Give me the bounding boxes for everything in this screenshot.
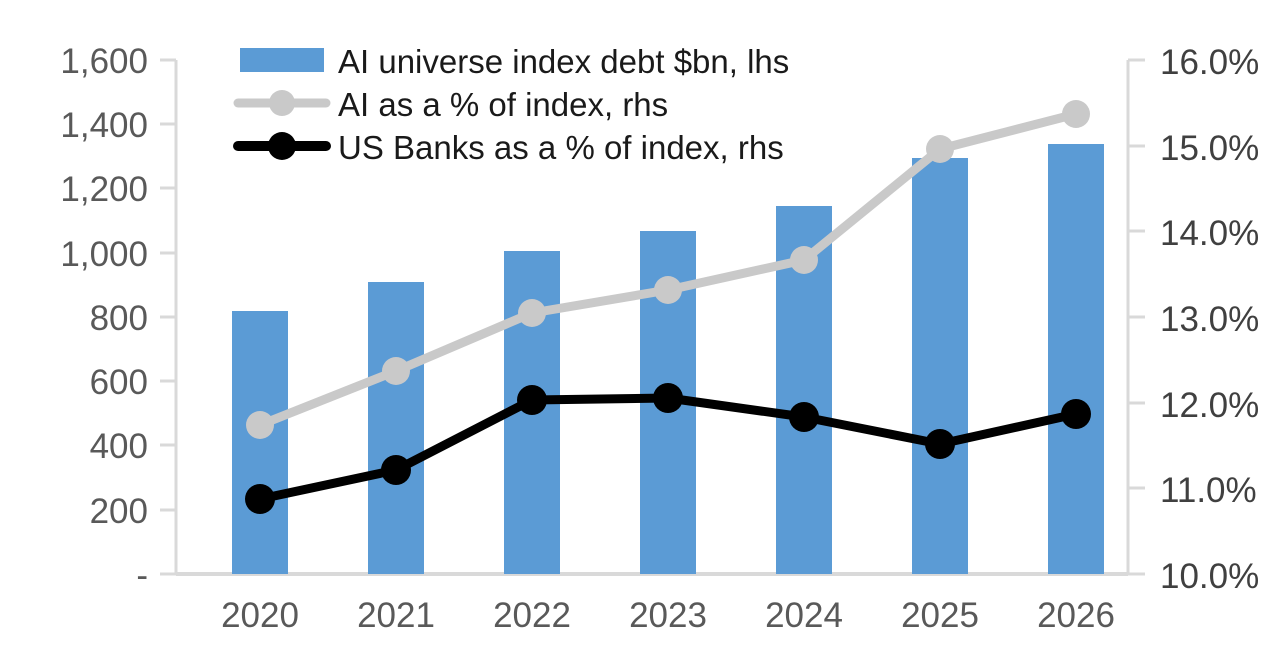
left-tick-label: 200 <box>90 492 148 531</box>
bar-2021 <box>368 282 424 574</box>
category-label: 2023 <box>629 596 707 635</box>
right-tick-label: 11.0% <box>1160 471 1257 510</box>
legend-item-ai-universe-index-debt[interactable]: AI universe index debt $bn, lhs <box>240 43 789 80</box>
chart-legend: AI universe index debt $bn, lhs AI as a … <box>238 43 789 166</box>
category-label: 2025 <box>901 596 979 635</box>
legend-item-us-banks-as-percent-of-index[interactable]: US Banks as a % of index, rhs <box>238 129 784 166</box>
legend-dot-icon <box>268 132 296 160</box>
bar-2026 <box>1048 144 1104 574</box>
left-axis-ticks <box>160 60 176 574</box>
chart-svg: 1,600 1,400 1,200 1,000 800 600 400 200 … <box>0 0 1284 664</box>
left-tick-label: - <box>136 556 148 595</box>
legend-label: US Banks as a % of index, rhs <box>338 129 784 166</box>
left-tick-label: 800 <box>90 299 148 338</box>
legend-dot-icon <box>269 90 295 116</box>
bar-2025 <box>912 158 968 574</box>
right-axis-labels: 16.0% 15.0% 14.0% 13.0% 12.0% 11.0% 10.0… <box>1160 43 1259 596</box>
category-labels: 2020 2021 2022 2023 2024 2025 2026 <box>221 596 1115 635</box>
right-tick-label: 16.0% <box>1160 43 1259 82</box>
left-axis <box>160 60 176 574</box>
right-tick-label: 13.0% <box>1160 300 1259 339</box>
right-axis <box>1128 60 1145 574</box>
legend-bar-swatch-icon <box>240 48 324 72</box>
category-label: 2022 <box>493 596 571 635</box>
left-tick-label: 600 <box>90 363 148 402</box>
left-tick-label: 400 <box>90 427 148 466</box>
left-tick-label: 1,600 <box>60 42 148 81</box>
category-label: 2021 <box>357 596 435 635</box>
category-label: 2024 <box>765 596 843 635</box>
right-tick-label: 14.0% <box>1160 214 1259 253</box>
legend-label: AI as a % of index, rhs <box>338 86 668 123</box>
left-axis-labels: 1,600 1,400 1,200 1,000 800 600 400 200 … <box>60 42 148 595</box>
right-tick-label: 12.0% <box>1160 386 1259 425</box>
bar-2020 <box>232 311 288 574</box>
left-tick-label: 1,400 <box>60 106 148 145</box>
right-tick-label: 10.0% <box>1160 557 1259 596</box>
chart-container: 1,600 1,400 1,200 1,000 800 600 400 200 … <box>0 0 1284 664</box>
bar-series <box>232 144 1104 574</box>
right-tick-label: 15.0% <box>1160 129 1259 168</box>
category-label: 2020 <box>221 596 299 635</box>
left-tick-label: 1,200 <box>60 170 148 209</box>
right-axis-ticks <box>1128 60 1145 574</box>
legend-item-ai-as-percent-of-index[interactable]: AI as a % of index, rhs <box>238 86 668 123</box>
legend-label: AI universe index debt $bn, lhs <box>338 43 789 80</box>
category-label: 2026 <box>1037 596 1115 635</box>
left-tick-label: 1,000 <box>60 235 148 274</box>
